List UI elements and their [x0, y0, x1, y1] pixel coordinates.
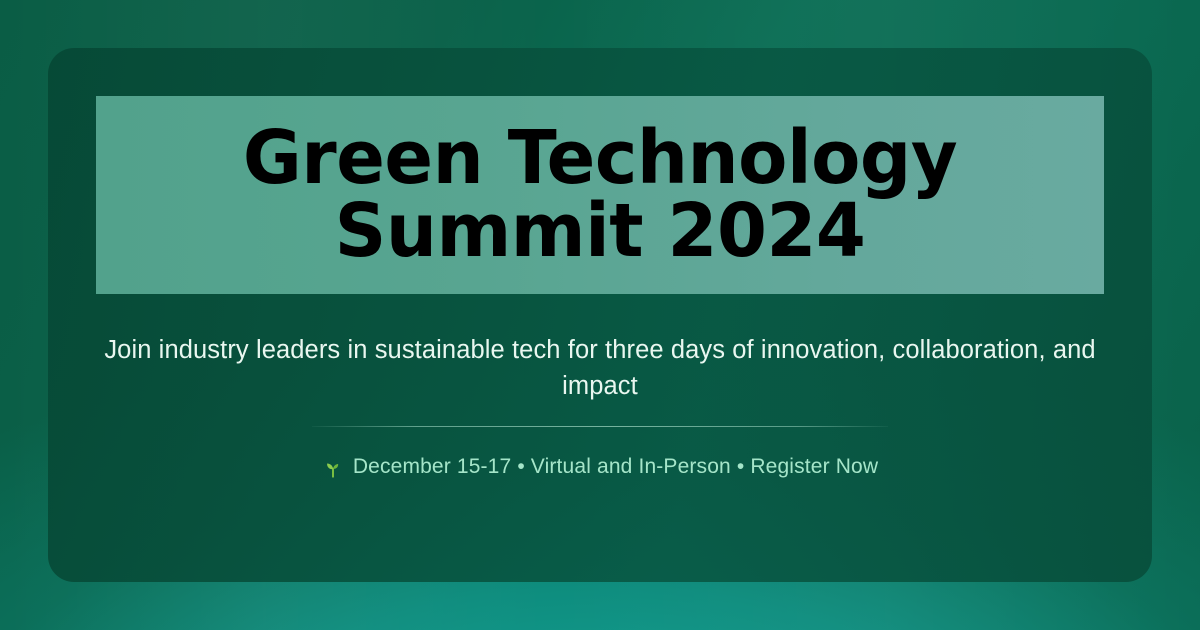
divider — [312, 426, 888, 427]
sprout-icon — [322, 457, 344, 479]
page-title-line-2: Summit 2024 — [134, 195, 1065, 268]
page-title: Green Technology Summit 2024 — [111, 122, 1089, 267]
title-band: Green Technology Summit 2024 — [96, 96, 1104, 294]
page-title-line-1: Green Technology — [134, 122, 1065, 195]
event-meta: December 15-17 • Virtual and In-Person •… — [322, 455, 878, 479]
banner-body: Join industry leaders in sustainable tec… — [48, 294, 1152, 582]
event-meta-text: December 15-17 • Virtual and In-Person •… — [353, 455, 878, 479]
subtitle-text: Join industry leaders in sustainable tec… — [95, 332, 1105, 404]
banner-card: Green Technology Summit 2024 Join indust… — [48, 48, 1152, 582]
